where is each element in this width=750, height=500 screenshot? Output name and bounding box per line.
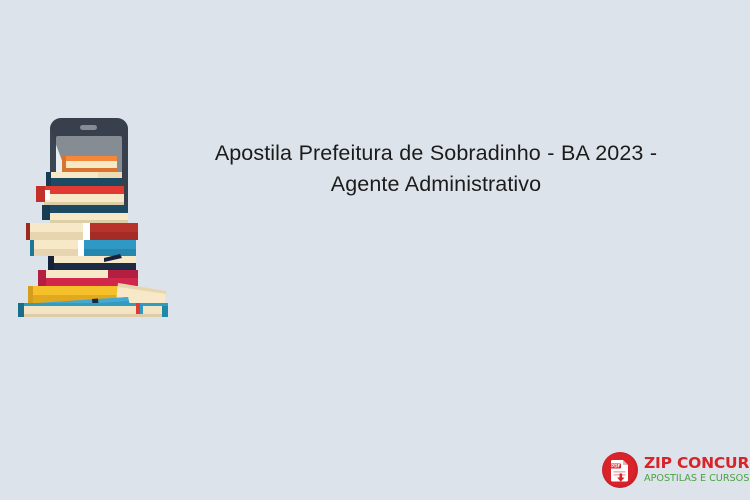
- book-base: [16, 295, 168, 317]
- pdf-download-icon: PDF: [601, 451, 639, 489]
- book-navy-upper: [46, 172, 122, 186]
- logo-primary-text: ZIP CONCURSOS: [644, 456, 750, 472]
- book-indigo: [48, 254, 136, 270]
- book-red-upper: [36, 186, 124, 205]
- logo-secondary-text: APOSTILAS E CURSOS: [644, 474, 750, 484]
- book-teal-mid: [30, 240, 136, 256]
- title-block: Apostila Prefeitura de Sobradinho - BA 2…: [186, 138, 686, 200]
- book-orange-top: [62, 156, 117, 172]
- book-crimson: [38, 270, 138, 286]
- books-illustration: [8, 112, 178, 317]
- book-darkred: [26, 223, 138, 240]
- pdf-download-icon-graphic: PDF: [601, 451, 639, 489]
- svg-text:PDF: PDF: [611, 464, 620, 469]
- brand-logo[interactable]: PDF ZIP CONCURSOS APOSTILAS E CURSOS: [601, 450, 742, 490]
- book-navy-mid: [42, 205, 128, 223]
- logo-text-group: ZIP CONCURSOS APOSTILAS E CURSOS: [644, 456, 750, 484]
- books-illustration-graphic: [8, 112, 178, 317]
- promo-banner: Apostila Prefeitura de Sobradinho - BA 2…: [0, 0, 750, 500]
- page-title: Apostila Prefeitura de Sobradinho - BA 2…: [186, 138, 686, 200]
